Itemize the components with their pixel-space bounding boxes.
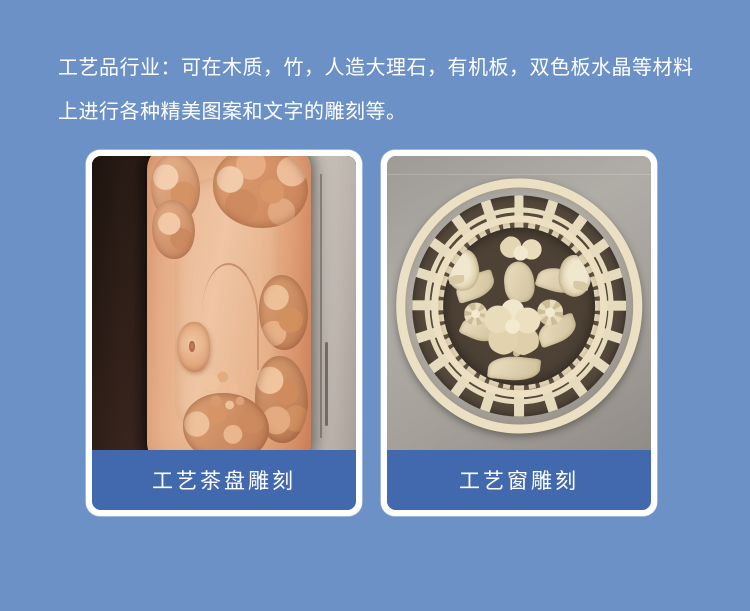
round-carving-disc (396, 179, 642, 434)
leaf (487, 354, 541, 383)
photo-tea-tray (92, 156, 356, 456)
tray-lotus-medallion (177, 322, 210, 372)
window-scene (387, 156, 651, 456)
relief-blossom-dots (203, 368, 246, 418)
page-root: 工艺品行业：可在木质，竹，人造大理石，有机板，双色板水晶等材料上进行各种精美图案… (0, 0, 750, 611)
caption-window-carving: 工艺窗雕刻 (387, 450, 651, 510)
card-inner: 工艺茶盘雕刻 (92, 156, 356, 510)
relief-cluster-left (152, 200, 195, 259)
central-medallion (443, 227, 595, 385)
relief-cluster-right (259, 275, 308, 350)
card-window-carving[interactable]: 工艺窗雕刻 (381, 150, 657, 516)
card-tea-tray[interactable]: 工艺茶盘雕刻 (86, 150, 362, 516)
tray-scene (92, 156, 356, 456)
tray-groove-line (202, 263, 258, 370)
card-gallery: 工艺茶盘雕刻 (0, 150, 750, 518)
card-inner: 工艺窗雕刻 (387, 156, 651, 510)
page-title: 工艺品行业：可在木质，竹，人造大理石，有机板，双色板水晶等材料上进行各种精美图案… (58, 46, 698, 134)
peony-blossom-top (498, 233, 544, 271)
caption-tea-tray: 工艺茶盘雕刻 (92, 450, 356, 510)
peony-blossom-main (479, 297, 546, 357)
photo-window-carving (387, 156, 651, 456)
carved-wood-tray (147, 156, 311, 456)
